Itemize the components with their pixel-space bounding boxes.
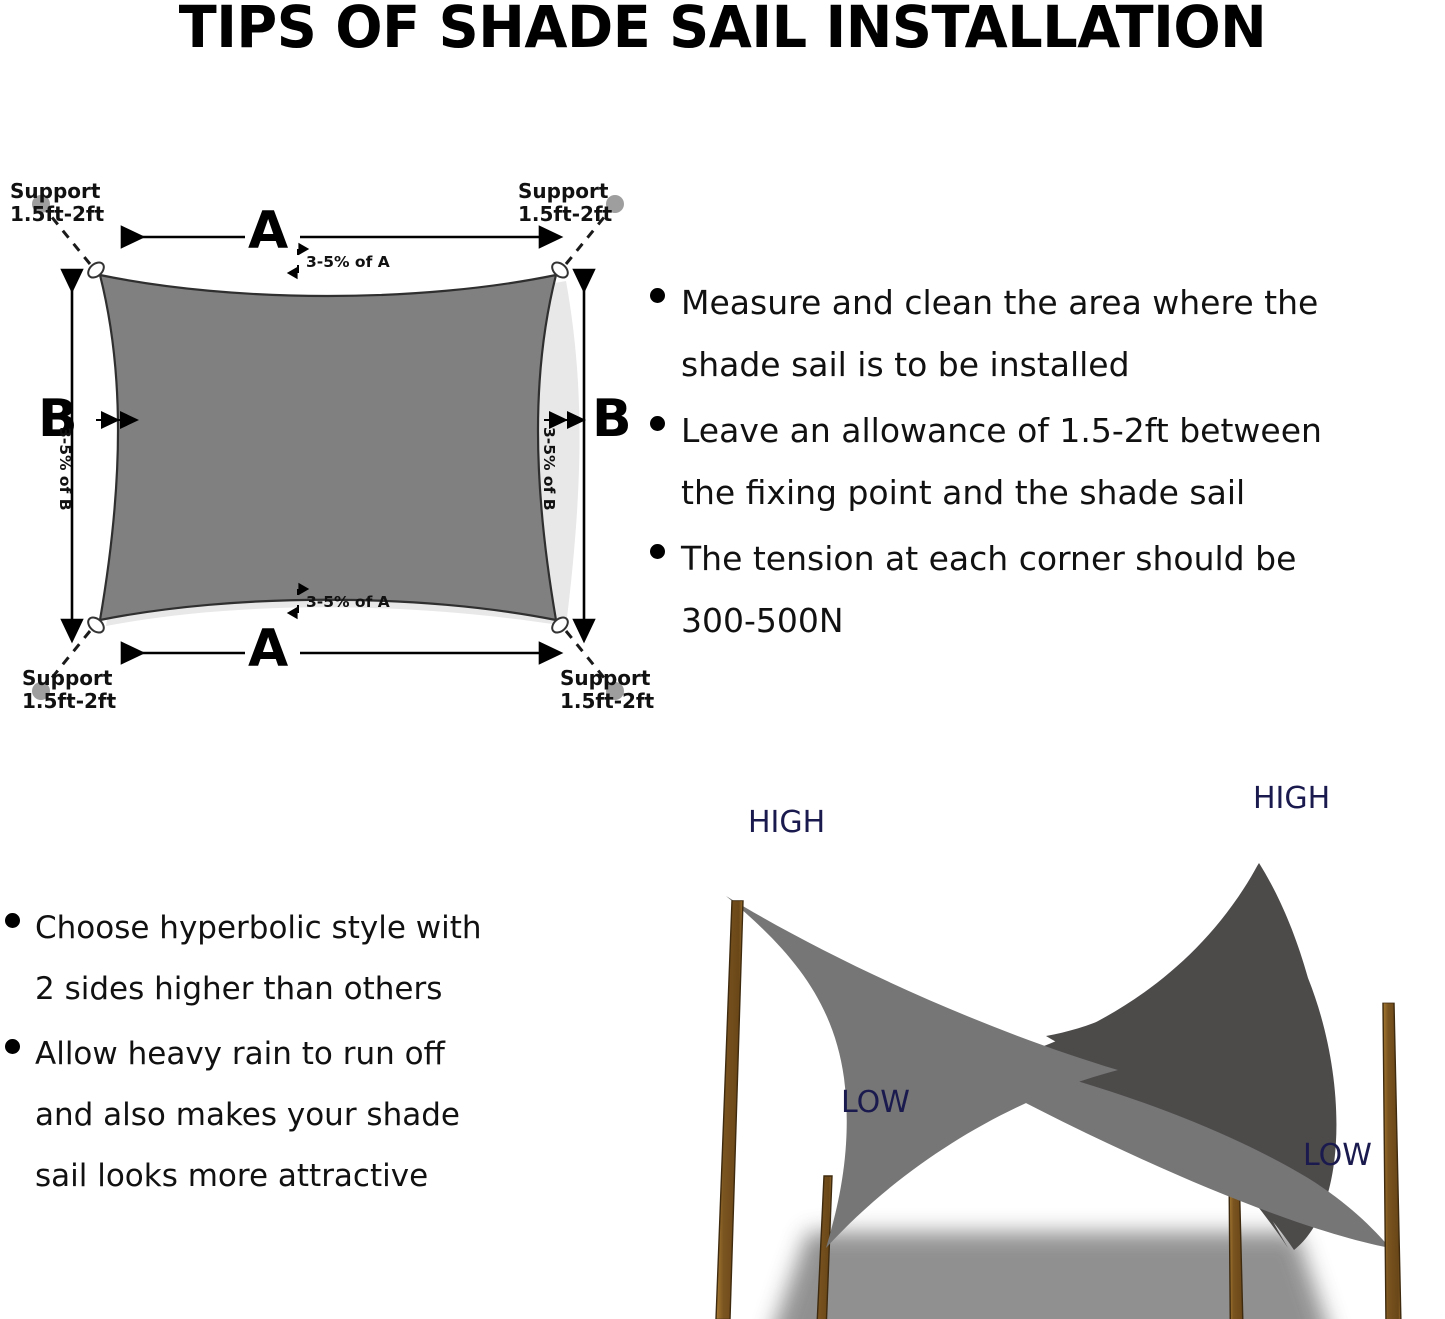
label-low-right: LOW [1303, 1141, 1372, 1171]
list-item: Allow heavy rain to run off and also mak… [5, 1024, 625, 1207]
sail-body [100, 275, 556, 620]
list-item-line: Choose hyperbolic style with [35, 910, 482, 946]
dimension-letter-bottom-a: A [248, 623, 288, 675]
post-low-right [1383, 1003, 1401, 1319]
list-item-text: Allow heavy rain to run off and also mak… [35, 1024, 460, 1207]
list-item-line: shade sail is to be installed [681, 345, 1130, 384]
support-label-line1: Support [560, 667, 654, 690]
label-high-right: HIGH [1253, 784, 1330, 814]
post-high-left [716, 901, 743, 1319]
support-label-bottom-right: Support 1.5ft-2ft [560, 667, 654, 713]
list-item-line: 2 sides higher than others [35, 971, 442, 1007]
label-low-left: LOW [841, 1088, 910, 1118]
rectangular-sail-diagram: A A B B 3-5% of A 3-5% of A 3-5% of B 3-… [0, 165, 650, 735]
support-label-top-right: Support 1.5ft-2ft [518, 180, 612, 226]
list-item-line: Allow heavy rain to run off [35, 1036, 445, 1072]
curve-label-top: 3-5% of A [306, 255, 390, 271]
list-item-text: Measure and clean the area where the sha… [681, 272, 1318, 396]
support-label-line2: 1.5ft-2ft [22, 690, 116, 713]
bullet-dot-icon [650, 416, 665, 431]
list-item-line: Measure and clean the area where the [681, 283, 1318, 322]
bullet-dot-icon [650, 544, 665, 559]
dimension-letter-top-a: A [248, 205, 288, 257]
hyperbolic-sail-diagram: HIGH HIGH LOW LOW [648, 778, 1445, 1319]
bullet-dot-icon [650, 288, 665, 303]
list-item-text: The tension at each corner should be 300… [681, 528, 1296, 652]
list-item: Leave an allowance of 1.5-2ft between th… [650, 400, 1445, 524]
support-label-bottom-left: Support 1.5ft-2ft [22, 667, 116, 713]
list-item-text: Choose hyperbolic style with 2 sides hig… [35, 898, 482, 1020]
support-label-line2: 1.5ft-2ft [560, 690, 654, 713]
page-title: TIPS OF SHADE SAIL INSTALLATION [29, 0, 1416, 58]
label-high-left: HIGH [748, 808, 825, 838]
list-item-line: 300-500N [681, 601, 844, 640]
list-item: Measure and clean the area where the sha… [650, 272, 1445, 396]
tips-list-top: Measure and clean the area where the sha… [650, 272, 1445, 656]
list-item-line: and also makes your shade [35, 1097, 460, 1133]
list-item-line: the fixing point and the shade sail [681, 473, 1245, 512]
list-item: The tension at each corner should be 300… [650, 528, 1445, 652]
bullet-dot-icon [5, 1039, 20, 1054]
support-label-line1: Support [518, 180, 612, 203]
curve-label-left: 3-5% of B [57, 427, 73, 511]
support-label-line2: 1.5ft-2ft [518, 203, 612, 226]
support-label-top-left: Support 1.5ft-2ft [10, 180, 104, 226]
list-item-line: sail looks more attractive [35, 1158, 428, 1194]
dimension-letter-right-b: B [592, 393, 632, 445]
list-item-text: Leave an allowance of 1.5-2ft between th… [681, 400, 1322, 524]
curve-label-right: 3-5% of B [541, 427, 557, 511]
support-label-line1: Support [10, 180, 104, 203]
bullet-dot-icon [5, 913, 20, 928]
tips-list-bottom: Choose hyperbolic style with 2 sides hig… [5, 898, 625, 1211]
list-item-line: The tension at each corner should be [681, 539, 1296, 578]
support-label-line2: 1.5ft-2ft [10, 203, 104, 226]
support-label-line1: Support [22, 667, 116, 690]
curve-label-bottom: 3-5% of A [306, 595, 390, 611]
ground-shadow [753, 1232, 1348, 1319]
sail-panel-front [726, 896, 1118, 1248]
hyperbolic-sail-svg [648, 778, 1445, 1319]
list-item-line: Leave an allowance of 1.5-2ft between [681, 411, 1322, 450]
list-item: Choose hyperbolic style with 2 sides hig… [5, 898, 625, 1020]
